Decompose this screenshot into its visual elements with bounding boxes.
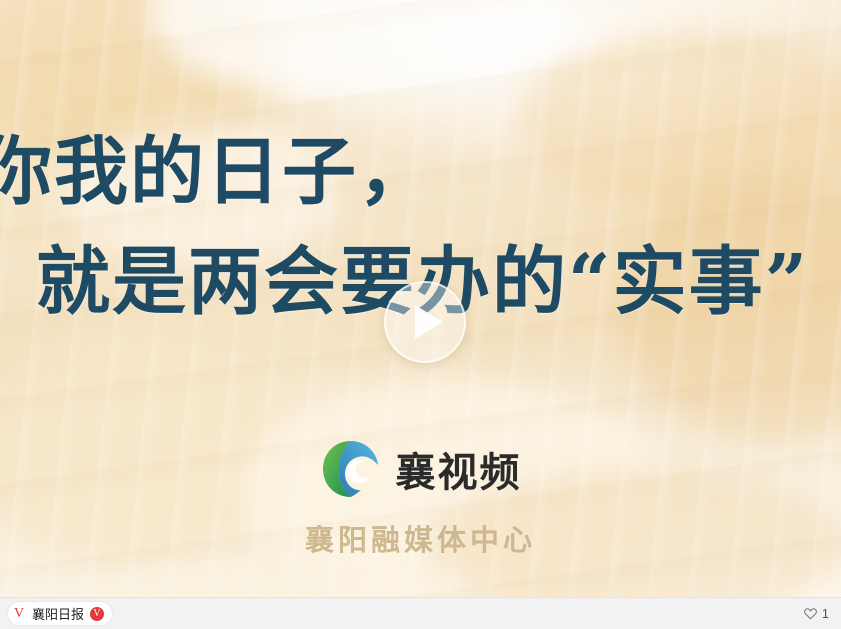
brand-subtitle: 襄阳融媒体中心 (0, 517, 841, 559)
verified-badge-icon: V (90, 607, 104, 621)
video-player[interactable]: 你我的日子， 就是两会要办的“实事” (0, 0, 841, 629)
v-mark-icon: V (12, 607, 26, 621)
brand-row: 襄视频 (320, 438, 522, 500)
watercolor-wash (150, 0, 570, 100)
brand-block: 襄视频 襄阳融媒体中心 (0, 438, 841, 559)
wave-circle-logo-icon (320, 438, 382, 500)
headline-line-1: 你我的日子， (0, 128, 434, 216)
publisher-name: 襄阳日报 (32, 604, 84, 623)
publisher-chip[interactable]: V 襄阳日报 V (8, 602, 112, 625)
play-triangle-icon (415, 305, 443, 339)
like-counter[interactable]: 1 (804, 606, 833, 621)
video-poster[interactable]: 你我的日子， 就是两会要办的“实事” (0, 0, 841, 597)
like-count: 1 (822, 606, 829, 621)
heart-icon (804, 607, 817, 620)
play-button[interactable] (384, 281, 466, 363)
player-bottom-bar: V 襄阳日报 V 1 (0, 597, 841, 629)
brand-name: 襄视频 (396, 440, 522, 498)
watercolor-wash (520, 30, 841, 210)
